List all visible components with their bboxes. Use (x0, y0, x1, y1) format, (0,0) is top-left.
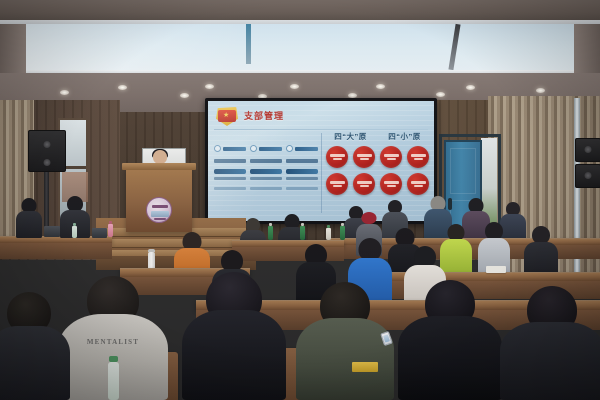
org-column-header (286, 145, 318, 152)
org-subtext (214, 159, 246, 163)
attendee-black-suit-phone (398, 280, 502, 400)
org-bullet-icon (286, 145, 293, 152)
institution-crest-icon (146, 197, 172, 223)
org-pill-block (250, 169, 282, 180)
presenter-head (153, 150, 167, 164)
group-title-big: 四“大”原 (326, 131, 375, 142)
left-line-array-speaker (28, 130, 66, 172)
ceiling-cove-left (0, 24, 26, 76)
slide-circle-item (407, 173, 429, 195)
slide-vertical-rule (321, 133, 322, 213)
water-bottle (72, 226, 77, 238)
slide-circle-item (380, 146, 402, 168)
green-glass-bottle (340, 226, 345, 240)
slide-group-big: 四“大”原 (326, 131, 375, 195)
downlight-icon (60, 90, 69, 95)
slide-title: 支部管理 (244, 109, 284, 122)
ceiling-skylight-panel (22, 24, 578, 72)
slide-circle-item (353, 146, 375, 168)
ceiling-beam (0, 0, 600, 22)
org-footnote (250, 187, 282, 190)
downlight-icon (466, 85, 475, 90)
right-line-array-speaker-lower (575, 164, 600, 188)
downlight-icon (290, 84, 299, 89)
group-title-small: 四“小”原 (380, 131, 429, 142)
green-glass-bottle (300, 226, 305, 240)
downlight-icon (180, 93, 189, 98)
slide-circle-item (326, 146, 348, 168)
attendee-front-far-left (0, 292, 70, 400)
org-bullet-icon (214, 145, 221, 152)
desk-front-back-left (0, 243, 112, 259)
wooden-podium (126, 168, 192, 232)
yellow-folder (352, 362, 378, 372)
attendee-olive-jacket (296, 282, 394, 400)
org-footnote (286, 187, 318, 190)
slide-group-small: 四“小”原 (380, 131, 429, 195)
attendee-right-edge (524, 226, 558, 278)
party-emblem-icon: ★ (216, 107, 238, 126)
org-bullet-icon (250, 145, 257, 152)
skylight-rib (246, 24, 251, 64)
downlight-icon (205, 84, 214, 89)
org-column-header (214, 145, 246, 152)
ceiling-cove-right (574, 24, 600, 76)
conference-room-photo: ★ 支部管理 (0, 0, 600, 400)
attendee-dark-coat (182, 272, 286, 400)
water-bottle (326, 228, 331, 240)
slide-circle-item (353, 173, 375, 195)
water-bottle (108, 362, 119, 400)
org-subtext (250, 159, 282, 163)
downlight-icon (118, 85, 127, 90)
slide-circle-item (326, 173, 348, 195)
slide-circle-item (380, 173, 402, 195)
slide-circle-item (407, 146, 429, 168)
org-column-header (250, 145, 282, 152)
green-glass-bottle (268, 226, 273, 240)
right-line-array-speaker (575, 138, 600, 162)
downlight-icon (536, 88, 545, 93)
pink-bottle (108, 224, 113, 237)
downlight-icon (436, 92, 445, 97)
speaker-pole-left (44, 170, 49, 232)
org-footnote (214, 187, 246, 190)
org-pill-block (214, 169, 246, 180)
slide-org-columns (214, 145, 318, 190)
org-pill-block (286, 169, 318, 180)
jacket-text: MENTALIST (87, 338, 139, 346)
laptop (44, 226, 60, 237)
attendee-dark-suit-left (16, 198, 42, 238)
slide-divider (214, 129, 428, 130)
notepad (486, 266, 506, 273)
laptop (92, 228, 107, 238)
attendee-front-far-right (500, 286, 600, 400)
org-subtext (286, 159, 318, 163)
downlight-icon (376, 84, 385, 89)
